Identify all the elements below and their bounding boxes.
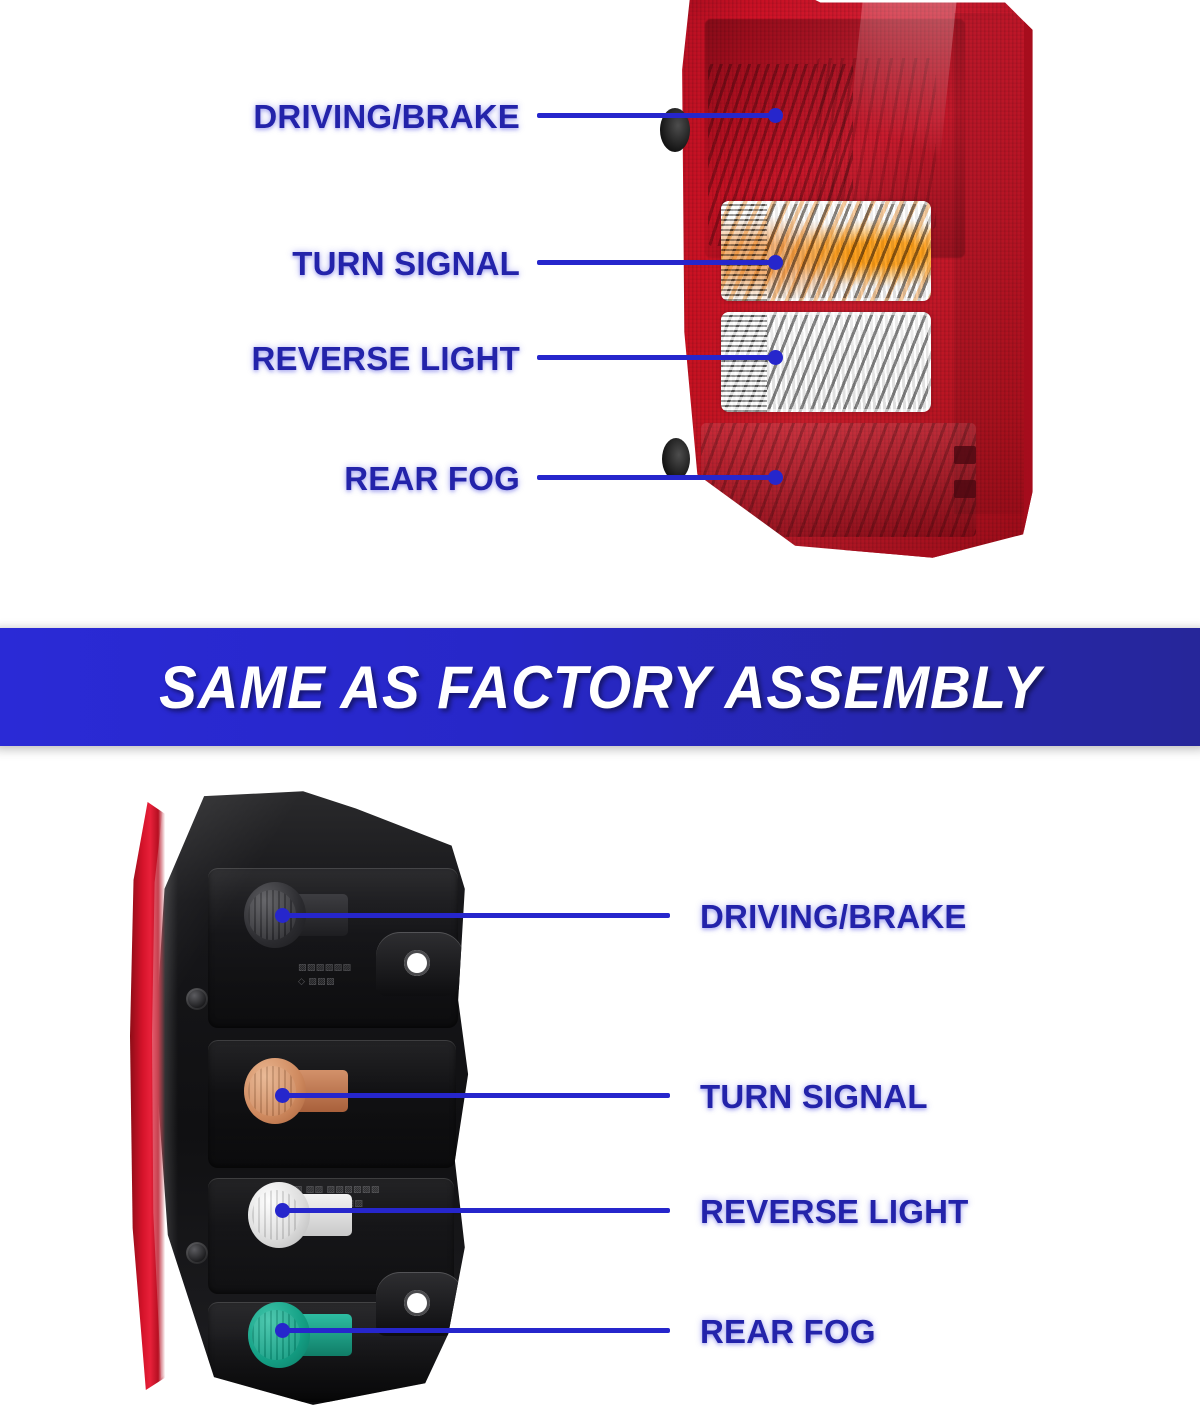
callout-label-reverse-light-bottom: REVERSE LIGHT bbox=[700, 1193, 968, 1231]
housing-screw-upper bbox=[186, 988, 208, 1010]
infographic-stage: DRIVING/BRAKE TURN SIGNAL REVERSE LIGHT … bbox=[0, 0, 1200, 1412]
banner-text: SAME AS FACTORY ASSEMBLY bbox=[159, 653, 1041, 722]
leader-line-rear-fog-top bbox=[537, 475, 777, 480]
leader-line-rear-fog-bottom bbox=[282, 1328, 670, 1333]
leader-line-reverse-light-bottom bbox=[282, 1208, 670, 1213]
leader-line-turn-signal-top bbox=[537, 260, 777, 265]
callout-label-turn-signal-bottom: TURN SIGNAL bbox=[700, 1078, 928, 1116]
leader-dot-rear-fog-top bbox=[768, 470, 783, 485]
leader-dot-reverse-light-top bbox=[768, 350, 783, 365]
leader-line-reverse-light-top bbox=[537, 355, 777, 360]
callout-label-turn-signal-top: TURN SIGNAL bbox=[60, 245, 520, 283]
leader-dot-driving-brake-top bbox=[768, 108, 783, 123]
tail-light-housing-image: ▨▨▨▨▨▨ ◇ ▨▨▨ ▨▨▨ ▨▨ ▨▨▨▨▨▨ ▨▨▨▨ ▨▨▨ bbox=[130, 790, 520, 1410]
housing-embossed-text-upper2: ◇ ▨▨▨ bbox=[298, 976, 335, 987]
callout-label-driving-brake-bottom: DRIVING/BRAKE bbox=[700, 898, 967, 936]
callout-label-driving-brake-top: DRIVING/BRAKE bbox=[60, 98, 520, 136]
mounting-ear-upper bbox=[376, 932, 464, 996]
factory-assembly-banner: SAME AS FACTORY ASSEMBLY bbox=[0, 628, 1200, 746]
mounting-hole-upper bbox=[404, 950, 430, 976]
callout-label-reverse-light-top: REVERSE LIGHT bbox=[60, 340, 520, 378]
housing-embossed-text-upper: ▨▨▨▨▨▨ bbox=[298, 962, 351, 973]
leader-line-turn-signal-bottom bbox=[282, 1093, 670, 1098]
leader-line-driving-brake-bottom bbox=[282, 913, 670, 918]
callout-label-rear-fog-top: REAR FOG bbox=[60, 460, 520, 498]
leader-line-driving-brake-top bbox=[537, 113, 777, 118]
housing-screw-lower bbox=[186, 1242, 208, 1264]
leader-dot-turn-signal-top bbox=[768, 255, 783, 270]
rubber-grommet-lower bbox=[662, 438, 690, 480]
callout-label-rear-fog-bottom: REAR FOG bbox=[700, 1313, 876, 1351]
black-housing-body: ▨▨▨▨▨▨ ◇ ▨▨▨ ▨▨▨ ▨▨ ▨▨▨▨▨▨ ▨▨▨▨ ▨▨▨ bbox=[148, 790, 478, 1408]
mounting-hole-lower bbox=[404, 1290, 430, 1316]
mounting-ear-lower bbox=[376, 1272, 464, 1336]
